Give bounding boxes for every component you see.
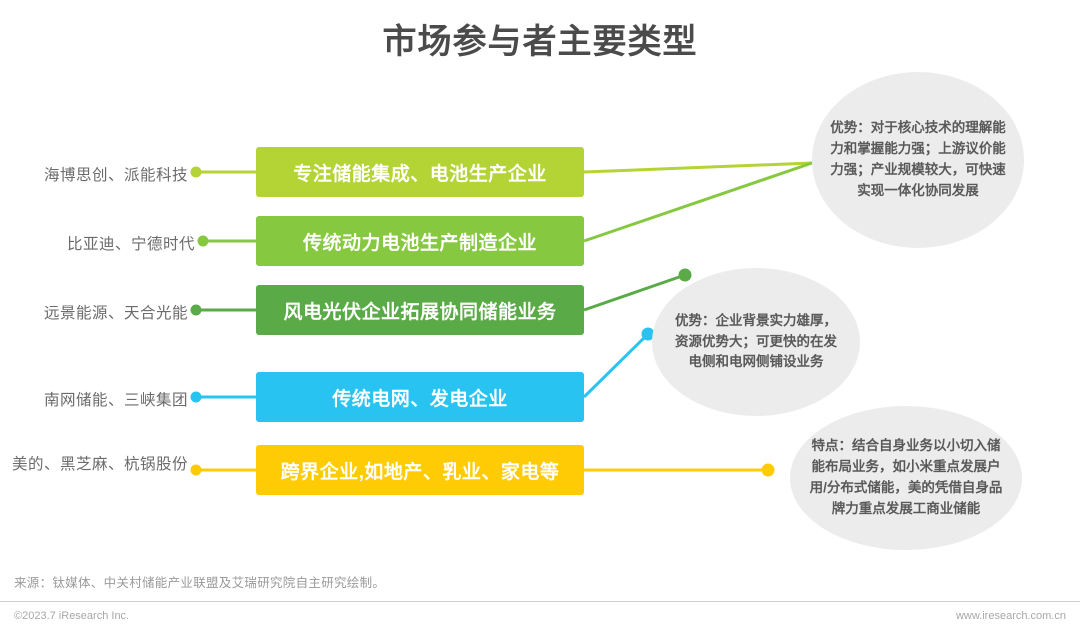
category-bar-1[interactable]: 专注储能集成、电池生产企业	[256, 147, 584, 197]
annotation-bubble-1-text: 优势：对于核心技术的理解能力和掌握能力强；上游议价能力强；产业规模较大，可快速实…	[812, 118, 1024, 202]
category-bar-4[interactable]: 传统电网、发电企业	[256, 372, 584, 422]
row-label-5: 美的、黑芝麻、杭锅股份	[0, 452, 188, 474]
source-note: 来源：钛媒体、中关村储能产业联盟及艾瑞研究院自主研究绘制。	[14, 572, 385, 591]
connector-dot-row-5	[191, 465, 202, 476]
connector-dot-bubble-2-green	[679, 269, 692, 282]
category-bar-5[interactable]: 跨界企业,如地产、乳业、家电等	[256, 445, 584, 495]
row-label-2: 比亚迪、宁德时代	[0, 232, 195, 254]
connector-dot-bubble-3	[762, 464, 775, 477]
footer-divider	[0, 601, 1080, 602]
connector-dot-row-4	[191, 392, 202, 403]
connector-dot-row-2	[198, 236, 209, 247]
infographic-slide: 市场参与者主要类型 海博思创、派能科技 比亚迪、宁德时代 远景能源、天合光能 南…	[0, 0, 1080, 632]
annotation-bubble-3-text: 特点：结合自身业务以小切入储能布局业务，如小米重点发展户用/分布式储能，美的凭借…	[790, 436, 1022, 520]
annotation-bubble-1: 优势：对于核心技术的理解能力和掌握能力强；上游议价能力强；产业规模较大，可快速实…	[812, 72, 1024, 248]
connector-dot-row-1	[191, 167, 202, 178]
connector-row-1-right	[584, 163, 812, 172]
category-bar-3[interactable]: 风电光伏企业拓展协同储能业务	[256, 285, 584, 335]
website-text: www.iresearch.com.cn	[956, 610, 1066, 622]
connector-row-2-right	[584, 163, 812, 241]
annotation-bubble-2-text: 优势：企业背景实力雄厚，资源优势大；可更快的在发电侧和电网侧铺设业务	[652, 311, 860, 374]
annotation-bubble-2: 优势：企业背景实力雄厚，资源优势大；可更快的在发电侧和电网侧铺设业务	[652, 268, 860, 416]
row-label-1: 海博思创、派能科技	[0, 163, 188, 185]
copyright-text: ©2023.7 iResearch Inc.	[14, 610, 129, 622]
row-label-3: 远景能源、天合光能	[0, 301, 188, 323]
annotation-bubble-3: 特点：结合自身业务以小切入储能布局业务，如小米重点发展户用/分布式储能，美的凭借…	[790, 406, 1022, 550]
connector-dot-row-3	[191, 305, 202, 316]
category-bar-2[interactable]: 传统动力电池生产制造企业	[256, 216, 584, 266]
row-label-4: 南网储能、三峡集团	[0, 388, 188, 410]
connector-row-4-right	[584, 334, 648, 397]
